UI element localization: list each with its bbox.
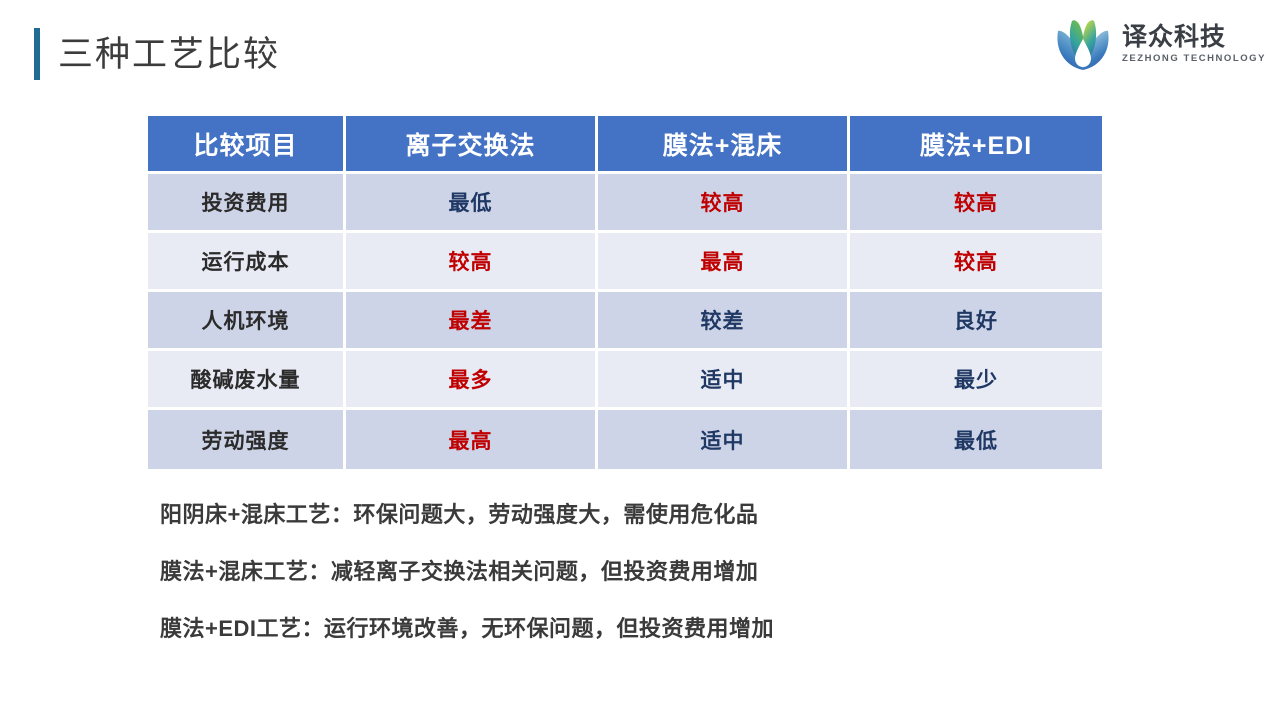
column-header-membrane-edi: 膜法+EDI bbox=[850, 116, 1102, 174]
table-header-row: 比较项目 离子交换法 膜法+混床 膜法+EDI bbox=[148, 116, 1102, 174]
row-label: 人机环境 bbox=[148, 292, 346, 351]
brand-logo: 译众科技 ZEZHONG TECHNOLOGY bbox=[1052, 12, 1266, 76]
summary-list: 阳阴床+混床工艺：环保问题大，劳动强度大，需使用危化品 膜法+混床工艺：减轻离子… bbox=[160, 497, 1120, 668]
page-title-text: 三种工艺比较 bbox=[58, 37, 280, 72]
cell-value: 最多 bbox=[346, 351, 598, 410]
cell-value: 最少 bbox=[850, 351, 1102, 410]
cell-value: 较高 bbox=[850, 233, 1102, 292]
cell-value: 最低 bbox=[346, 174, 598, 233]
summary-line: 膜法+EDI工艺：运行环境改善，无环保问题，但投资费用增加 bbox=[160, 611, 1120, 668]
cell-value: 适中 bbox=[598, 351, 850, 410]
logo-name-cn: 译众科技 bbox=[1122, 25, 1266, 50]
row-label: 劳动强度 bbox=[148, 410, 346, 469]
cell-value: 较差 bbox=[598, 292, 850, 351]
title-accent-bar bbox=[34, 28, 40, 80]
table-row: 劳动强度 最高 适中 最低 bbox=[148, 410, 1102, 469]
cell-value: 良好 bbox=[850, 292, 1102, 351]
row-label: 投资费用 bbox=[148, 174, 346, 233]
page-title: 三种工艺比较 bbox=[34, 27, 280, 81]
column-header-item: 比较项目 bbox=[148, 116, 346, 174]
logo-name-en: ZEZHONG TECHNOLOGY bbox=[1122, 54, 1266, 64]
cell-value: 最低 bbox=[850, 410, 1102, 469]
table-row: 人机环境 最差 较差 良好 bbox=[148, 292, 1102, 351]
table-row: 运行成本 较高 最高 较高 bbox=[148, 233, 1102, 292]
column-header-ion-exchange: 离子交换法 bbox=[346, 116, 598, 174]
row-label: 运行成本 bbox=[148, 233, 346, 292]
cell-value: 较高 bbox=[346, 233, 598, 292]
table-row: 酸碱废水量 最多 适中 最少 bbox=[148, 351, 1102, 410]
row-label: 酸碱废水量 bbox=[148, 351, 346, 410]
table-row: 投资费用 最低 较高 较高 bbox=[148, 174, 1102, 233]
cell-value: 最高 bbox=[598, 233, 850, 292]
cell-value: 最高 bbox=[346, 410, 598, 469]
leaf-droplet-emblem-icon bbox=[1052, 13, 1114, 75]
process-comparison-table: 比较项目 离子交换法 膜法+混床 膜法+EDI 投资费用 最低 较高 较高 运行… bbox=[148, 116, 1102, 469]
logo-text-block: 译众科技 ZEZHONG TECHNOLOGY bbox=[1122, 25, 1266, 64]
column-header-membrane-mixedbed: 膜法+混床 bbox=[598, 116, 850, 174]
cell-value: 较高 bbox=[850, 174, 1102, 233]
cell-value: 最差 bbox=[346, 292, 598, 351]
summary-line: 膜法+混床工艺：减轻离子交换法相关问题，但投资费用增加 bbox=[160, 554, 1120, 611]
cell-value: 较高 bbox=[598, 174, 850, 233]
summary-line: 阳阴床+混床工艺：环保问题大，劳动强度大，需使用危化品 bbox=[160, 497, 1120, 554]
cell-value: 适中 bbox=[598, 410, 850, 469]
